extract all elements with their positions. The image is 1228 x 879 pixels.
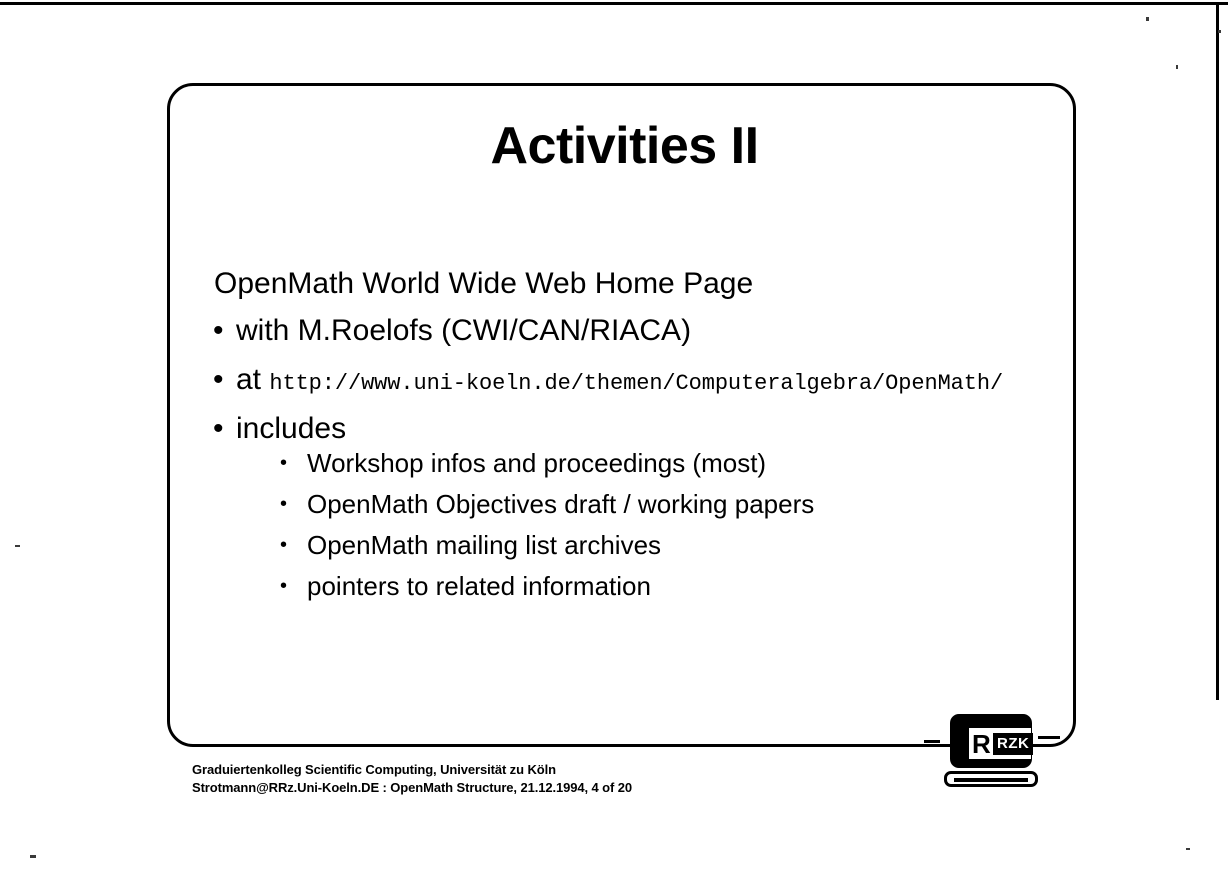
scan-speck: [1176, 65, 1178, 69]
list-item-label: includes: [236, 412, 346, 445]
list-item: • OpenMath mailing list archives: [236, 532, 1050, 558]
bullet-icon: •: [213, 316, 224, 346]
rrzk-computer-logo: R RZK: [944, 714, 1044, 793]
footer-line-reference: Strotmann@RRz.Uni-Koeln.DE : OpenMath St…: [192, 779, 892, 797]
list-item-label: OpenMath Objectives draft / working pape…: [307, 489, 814, 519]
list-item-label: with M.Roelofs (CWI/CAN/RIACA): [236, 314, 691, 347]
list-item: • at http://www.uni-koeln.de/themen/Comp…: [210, 365, 1050, 395]
scan-speck: [15, 545, 20, 547]
logo-dash-right: [1038, 736, 1060, 739]
list-item: • includes • Workshop infos and proceedi…: [210, 414, 1050, 599]
monitor-base-slot: [954, 778, 1028, 782]
list-item: • Workshop infos and proceedings (most): [236, 450, 1050, 476]
monitor-base: [944, 771, 1038, 787]
list-item: • OpenMath Objectives draft / working pa…: [236, 491, 1050, 517]
url-text: http://www.uni-koeln.de/themen/Computera…: [269, 371, 1003, 396]
slide-frame: Activities II OpenMath World Wide Web Ho…: [167, 83, 1076, 747]
bullet-list-level2: • Workshop infos and proceedings (most) …: [236, 450, 1050, 599]
scan-speck: [30, 855, 36, 858]
slide-body: OpenMath World Wide Web Home Page • with…: [210, 269, 1050, 618]
list-item-label: pointers to related information: [307, 571, 651, 601]
bullet-icon: •: [280, 533, 287, 557]
logo-primary-letter: R: [972, 731, 991, 757]
scan-speck: [1186, 848, 1190, 850]
bullet-icon: •: [213, 365, 224, 395]
scan-speck: [1146, 17, 1149, 21]
scanned-slide-page: Activities II OpenMath World Wide Web Ho…: [0, 0, 1228, 879]
list-item-label: OpenMath mailing list archives: [307, 530, 661, 560]
list-item-label: at: [236, 363, 269, 396]
monitor-icon: R RZK: [950, 714, 1032, 768]
footer-line-institution: Graduiertenkolleg Scientific Computing, …: [192, 761, 892, 779]
list-item-label: Workshop infos and proceedings (most): [307, 448, 766, 478]
slide-title: Activities II: [170, 120, 1079, 172]
scan-edge-right-line: [1216, 3, 1219, 700]
bullet-icon: •: [280, 574, 287, 598]
bullet-icon: •: [213, 414, 224, 444]
logo-dash-left: [924, 740, 940, 743]
list-item: • with M.Roelofs (CWI/CAN/RIACA): [210, 316, 1050, 346]
list-item: • pointers to related information: [236, 573, 1050, 599]
footer: Graduiertenkolleg Scientific Computing, …: [192, 761, 892, 798]
scan-speck: [1218, 30, 1221, 33]
scan-edge-top-line: [0, 2, 1228, 5]
logo-secondary-letters: RZK: [993, 733, 1033, 755]
bullet-list-level1: • with M.Roelofs (CWI/CAN/RIACA) • at ht…: [210, 316, 1050, 599]
bullet-icon: •: [280, 492, 287, 516]
bullet-icon: •: [280, 451, 287, 475]
lead-line: OpenMath World Wide Web Home Page: [210, 269, 1050, 299]
